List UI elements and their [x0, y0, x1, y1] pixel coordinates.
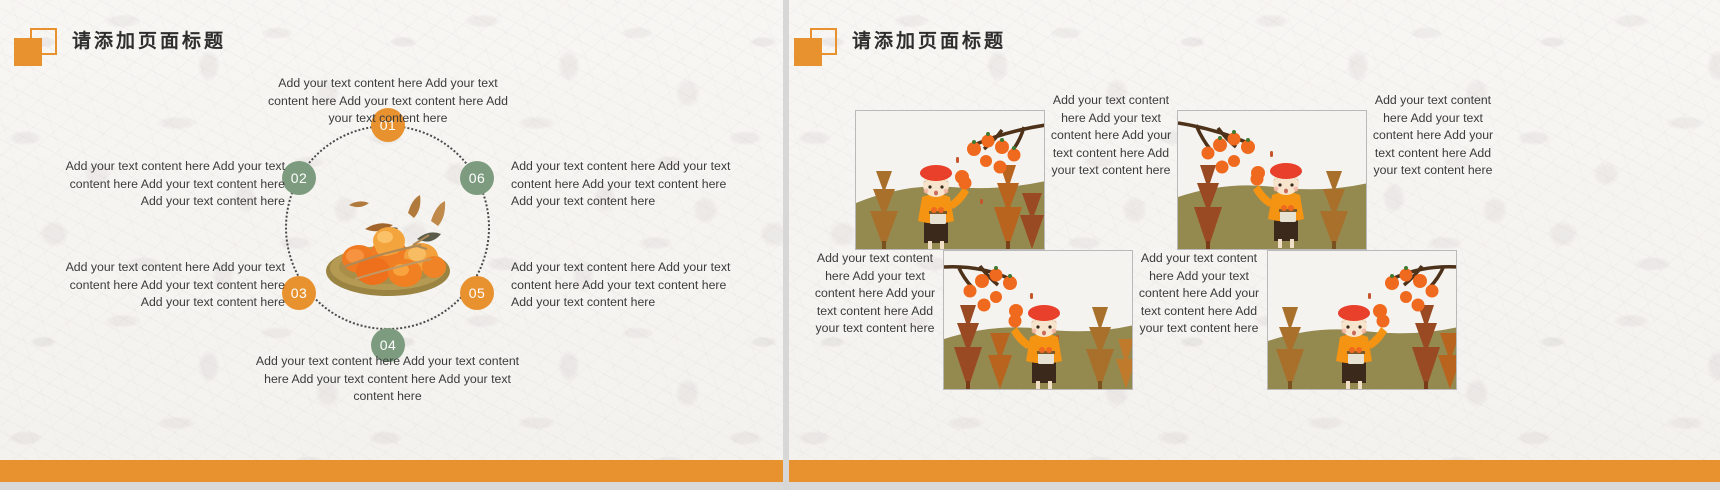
- girl-picking-persimmons-illustration-1: [856, 111, 1044, 249]
- step-badge-04-label: 04: [380, 337, 397, 353]
- step-badge-03-label: 03: [291, 285, 308, 301]
- page-title-right: 请添加页面标题: [852, 26, 1006, 53]
- radial-diagram: 01 02 03 04 05 06: [285, 125, 490, 330]
- grid-image-top-right[interactable]: [1177, 110, 1367, 250]
- slide-left-footer-bar: [0, 460, 783, 482]
- step-badge-05[interactable]: 05: [460, 276, 494, 310]
- slide-right-footer-bar: [789, 460, 1720, 482]
- grid-text-top-right: Add your text content here Add your text…: [1367, 92, 1499, 180]
- page-title: 请添加页面标题: [72, 26, 226, 53]
- slide-divider: [783, 0, 789, 490]
- title-square-outline-icon: [30, 28, 57, 55]
- grid-image-top-left[interactable]: [855, 110, 1045, 250]
- step-badge-02-label: 02: [291, 170, 308, 186]
- step-text-06: Add your text content here Add your text…: [511, 158, 743, 211]
- slide-right-footer-shadow: [789, 482, 1720, 490]
- step-text-03: Add your text content here Add your text…: [55, 259, 285, 312]
- step-badge-06[interactable]: 06: [460, 161, 494, 195]
- girl-picking-persimmons-illustration-4: [1268, 251, 1456, 389]
- girl-picking-persimmons-illustration-2: [1178, 111, 1366, 249]
- step-text-01: Add your text content here Add your text…: [258, 75, 518, 128]
- slide-left[interactable]: 请添加页面标题: [0, 0, 783, 490]
- grid-text-top-left: Add your text content here Add your text…: [1045, 92, 1177, 180]
- persimmon-plate-image: [313, 183, 463, 303]
- slide-left-footer-shadow: [0, 482, 783, 490]
- step-badge-02[interactable]: 02: [282, 161, 316, 195]
- grid-image-bottom-right[interactable]: [1267, 250, 1457, 390]
- slide-right[interactable]: 请添加页面标题: [789, 0, 1720, 490]
- grid-image-bottom-left[interactable]: [943, 250, 1133, 390]
- grid-text-bottom-right: Add your text content here Add your text…: [1133, 250, 1265, 338]
- slide-right-title-group: 请添加页面标题: [794, 26, 1006, 53]
- title-square-outline-icon-right: [810, 28, 837, 55]
- step-badge-03[interactable]: 03: [282, 276, 316, 310]
- step-badge-05-label: 05: [469, 285, 486, 301]
- step-badge-06-label: 06: [469, 170, 486, 186]
- slide-left-title-group: 请添加页面标题: [14, 26, 226, 53]
- step-text-04: Add your text content here Add your text…: [255, 353, 520, 406]
- step-text-02: Add your text content here Add your text…: [55, 158, 285, 211]
- grid-text-bottom-left: Add your text content here Add your text…: [809, 250, 941, 338]
- step-text-05: Add your text content here Add your text…: [511, 259, 743, 312]
- girl-picking-persimmons-illustration-3: [944, 251, 1132, 389]
